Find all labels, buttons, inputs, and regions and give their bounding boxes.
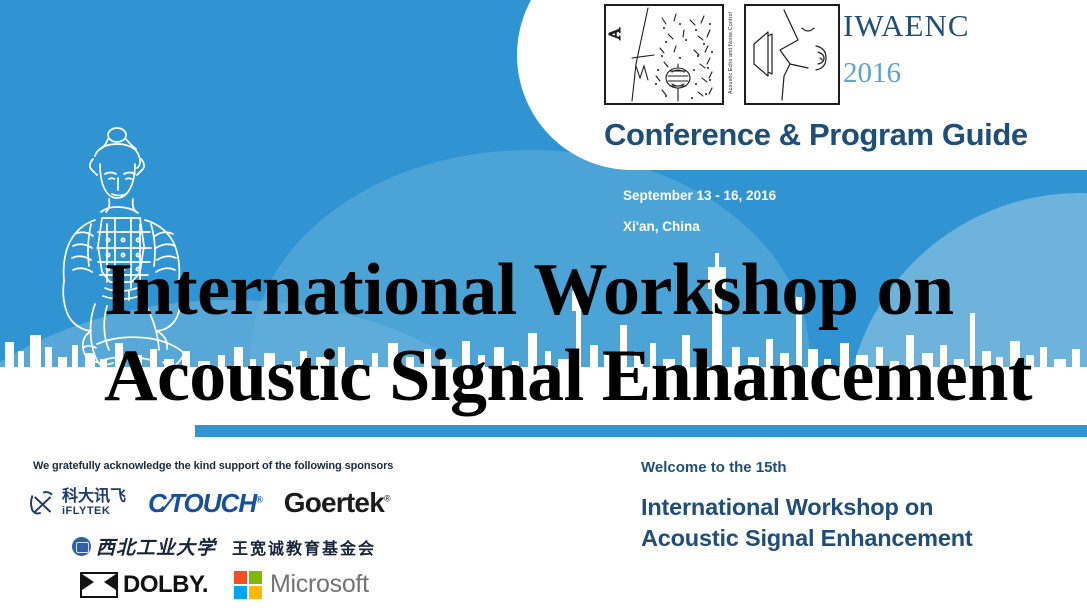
conference-program-cover: A Acoustic Echo and Noise Control (0, 0, 1087, 612)
sponsor-logo-npu: 西北工业大学 (72, 533, 216, 560)
svg-text:A: A (605, 27, 624, 40)
dolby-label: DOLBY. (123, 571, 208, 599)
microsoft-label: Microsoft (270, 570, 369, 599)
logo-sketch-room-icon: A (604, 4, 724, 105)
sponsor-row-1: 科大讯飞 iFLYTEK C∕TOUCH® Goertek® (28, 487, 390, 519)
page-title-line1: International Workshop on (104, 249, 954, 331)
logo-sketch-listener-icon (744, 4, 840, 105)
sponsor-logo-iflytek: 科大讯飞 iFLYTEK (28, 488, 126, 518)
goertek-registered-mark: ® (384, 494, 390, 504)
sponsor-logo-goertek: Goertek® (284, 487, 390, 519)
iflytek-mark-icon (28, 488, 58, 518)
page-title: International Workshop on Acoustic Signa… (104, 247, 1064, 419)
welcome-subtitle: Welcome to the 15th (641, 459, 787, 476)
iflytek-name-en: iFLYTEK (62, 506, 126, 517)
microsoft-squares-icon (234, 571, 262, 599)
cvtouch-registered-mark: ® (256, 494, 262, 504)
sponsor-acknowledgement: We gratefully acknowledge the kind suppo… (33, 460, 393, 472)
logo-year: 2016 (843, 57, 901, 90)
sponsor-logo-microsoft: Microsoft (234, 570, 369, 599)
conference-location: Xi'an, China (623, 219, 700, 234)
iflytek-name-cn: 科大讯飞 (62, 489, 126, 505)
cvtouch-label: C∕TOUCH (148, 488, 256, 518)
sponsor-row-2: 西北工业大学 王宽诚教育基金会 (72, 533, 376, 560)
dolby-double-d-icon (80, 572, 118, 598)
npu-label: 西北工业大学 (96, 533, 216, 560)
npu-seal-icon (72, 537, 91, 556)
goertek-label: Goertek (284, 487, 384, 518)
logo-acronym: IWAENC (843, 8, 970, 44)
sponsor-logo-cvtouch: C∕TOUCH® (148, 488, 262, 519)
sponsor-logo-wang-foundation: 王宽诚教育基金会 (232, 535, 376, 559)
iflytek-wordmark: 科大讯飞 iFLYTEK (62, 489, 126, 517)
iwaenc-logo: A Acoustic Echo and Noise Control (604, 4, 836, 104)
welcome-title: International Workshop on Acoustic Signa… (641, 492, 973, 554)
welcome-title-line1: International Workshop on (641, 492, 973, 523)
page-title-line2: Acoustic Signal Enhancement (104, 333, 1064, 419)
conference-dates: September 13 - 16, 2016 (623, 188, 776, 203)
hero-bottom-step (195, 425, 1087, 437)
guide-title: Conference & Program Guide (604, 117, 1028, 153)
sponsor-row-3: DOLBY. Microsoft (80, 570, 369, 599)
sponsor-logo-dolby: DOLBY. (80, 571, 208, 599)
welcome-title-line2: Acoustic Signal Enhancement (641, 523, 973, 554)
logo-vertical-text: Acoustic Echo and Noise Control (722, 4, 740, 101)
